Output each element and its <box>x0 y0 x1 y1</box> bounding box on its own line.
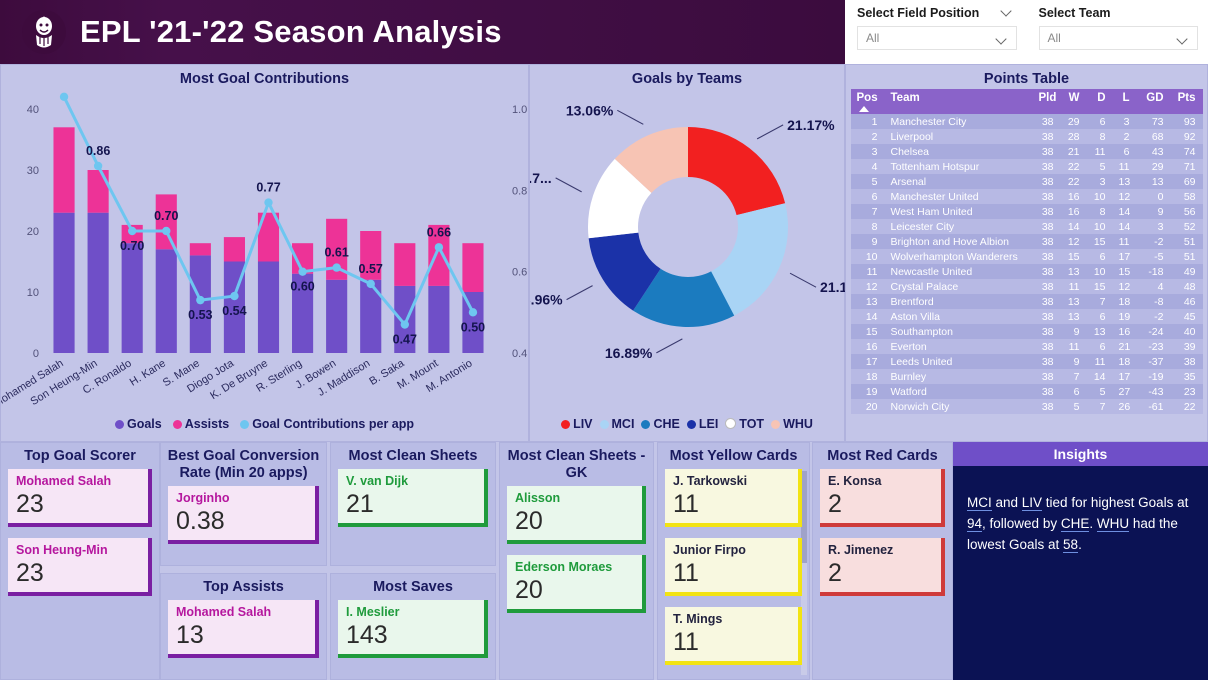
chevron-down-icon[interactable] <box>1178 35 1189 42</box>
kpi-group-title: Most Yellow Cards <box>658 443 809 469</box>
data-label: 0.86 <box>86 144 110 158</box>
table-row[interactable]: 9Brighton and Hove Albion38121511-251 <box>851 234 1203 249</box>
line-data-point[interactable] <box>401 320 409 328</box>
y-axis-tick: 30 <box>27 165 39 177</box>
table-cell-pts: 45 <box>1171 309 1203 324</box>
table-cell-pld: 38 <box>1033 159 1061 174</box>
table-cell-l: 27 <box>1113 384 1137 399</box>
kpi-card[interactable]: Alisson20 <box>507 486 646 544</box>
table-cell-gd: 9 <box>1137 204 1171 219</box>
table-row[interactable]: 19Watford386527-4323 <box>851 384 1203 399</box>
table-cell-gd: -19 <box>1137 369 1171 384</box>
table-cell-pld: 38 <box>1033 279 1061 294</box>
y2-axis-tick: 0.6 <box>512 267 527 279</box>
table-cell-gd: -24 <box>1137 324 1171 339</box>
y2-axis-tick: 1.0 <box>512 104 527 116</box>
table-cell-d: 10 <box>1087 219 1113 234</box>
bar-assists[interactable] <box>462 243 483 292</box>
kpi-card[interactable]: I. Meslier143 <box>338 600 488 658</box>
insight-entity: LIV <box>1022 495 1042 511</box>
table-cell-pld: 38 <box>1033 204 1061 219</box>
table-cell-d: 11 <box>1087 354 1113 369</box>
table-cell-pos: 2 <box>851 129 885 144</box>
table-cell-gd: -8 <box>1137 294 1171 309</box>
table-cell-d: 7 <box>1087 399 1113 414</box>
kpi-card-name: R. Jimenez <box>828 543 933 558</box>
table-cell-d: 10 <box>1087 189 1113 204</box>
donut-leader-line <box>617 110 643 124</box>
table-cell-pts: 49 <box>1171 264 1203 279</box>
page-title: EPL '21-'22 Season Analysis <box>80 14 502 50</box>
table-row[interactable]: 5Arsenal38223131369 <box>851 174 1203 189</box>
slicer-team-value: All <box>1048 31 1061 45</box>
table-cell-pld: 38 <box>1033 324 1061 339</box>
dashboard-header: EPL '21-'22 Season Analysis Select Field… <box>0 0 1208 64</box>
kpi-group-most-saves: Most SavesI. Meslier143 <box>330 573 496 680</box>
line-data-point[interactable] <box>367 280 375 288</box>
table-cell-pos: 11 <box>851 264 885 279</box>
legend-item[interactable]: WHU <box>771 417 813 431</box>
table-cell-team: West Ham United <box>885 204 1033 219</box>
table-cell-d: 6 <box>1087 249 1113 264</box>
table-cell-pts: 51 <box>1171 234 1203 249</box>
table-cell-pld: 38 <box>1033 114 1061 129</box>
table-row[interactable]: 7West Ham United3816814956 <box>851 204 1203 219</box>
sort-ascending-icon <box>859 106 869 112</box>
kpi-card[interactable]: Ederson Moraes20 <box>507 555 646 613</box>
table-row[interactable]: 20Norwich City385726-6122 <box>851 399 1203 414</box>
table-cell-d: 6 <box>1087 309 1113 324</box>
table-cell-l: 12 <box>1113 279 1137 294</box>
table-cell-l: 11 <box>1113 159 1137 174</box>
slicer-field-position[interactable]: Select Field Position All <box>845 0 1027 64</box>
insight-text: . <box>1078 537 1082 552</box>
kpi-group-most-yellow-cards[interactable]: Most Yellow Cards J. Tarkowski11Junior F… <box>657 442 810 680</box>
table-cell-gd: 43 <box>1137 144 1171 159</box>
table-cell-d: 7 <box>1087 294 1113 309</box>
bar-goals[interactable] <box>156 249 177 353</box>
table-cell-d: 3 <box>1087 174 1113 189</box>
table-cell-pos: 6 <box>851 189 885 204</box>
kpi-group-top-assists: Top AssistsMohamed Salah13 <box>160 573 327 680</box>
table-row[interactable]: 1Manchester City3829637393 <box>851 114 1203 129</box>
table-cell-pos: 10 <box>851 249 885 264</box>
slicer-team[interactable]: Select Team All <box>1027 0 1208 64</box>
table-cell-d: 15 <box>1087 279 1113 294</box>
chart-title-goals-by-teams: Goals by Teams <box>530 65 844 87</box>
table-row[interactable]: 11Newcastle United38131015-1849 <box>851 264 1203 279</box>
most-goal-contributions-chart: Most Goal Contributions 0102030400.40.60… <box>0 64 529 442</box>
legend-item[interactable]: Goal Contributions per app <box>240 417 414 431</box>
chevron-down-icon[interactable] <box>1002 7 1013 14</box>
insights-title: Insights <box>953 442 1208 466</box>
table-cell-pld: 38 <box>1033 144 1061 159</box>
bar-goals[interactable] <box>53 213 74 353</box>
kpi-card-name: Junior Firpo <box>673 543 790 558</box>
kpi-card-name: E. Konsa <box>828 474 933 489</box>
data-label: 0.77 <box>256 181 280 195</box>
table-cell-pld: 38 <box>1033 174 1061 189</box>
slicer-team-label: Select Team <box>1039 6 1199 20</box>
x-axis-tick: H. Kane <box>128 357 168 388</box>
data-label: 0.54 <box>222 304 246 318</box>
insight-entity: 58 <box>1063 537 1078 553</box>
table-cell-team: Brentford <box>885 294 1033 309</box>
bar-goals[interactable] <box>326 280 347 353</box>
kpi-card[interactable]: R. Jimenez2 <box>820 538 945 596</box>
bar-assists[interactable] <box>394 243 415 286</box>
table-cell-team: Burnley <box>885 369 1033 384</box>
table-cell-w: 29 <box>1061 114 1087 129</box>
table-cell-w: 15 <box>1061 249 1087 264</box>
legend-swatch <box>641 420 650 429</box>
kpi-card[interactable]: E. Konsa2 <box>820 469 945 527</box>
kpi-card-value: 23 <box>16 489 140 519</box>
line-data-point[interactable] <box>162 227 170 235</box>
table-cell-pts: 58 <box>1171 189 1203 204</box>
donut-slice-liv[interactable] <box>688 127 785 215</box>
donut-data-label: 13.7... <box>530 170 552 186</box>
kpi-card-value: 20 <box>515 506 634 536</box>
legend-item[interactable]: CHE <box>641 417 679 431</box>
column-header-gd[interactable]: GD <box>1137 89 1171 114</box>
table-cell-pos: 20 <box>851 399 885 414</box>
table-row[interactable]: 12Crystal Palace38111512448 <box>851 279 1203 294</box>
insight-entity: 94 <box>967 516 982 532</box>
y-axis-tick: 20 <box>27 226 39 238</box>
table-cell-pts: 38 <box>1171 354 1203 369</box>
table-cell-l: 15 <box>1113 264 1137 279</box>
table-cell-gd: -5 <box>1137 249 1171 264</box>
kpi-card-name: Mohamed Salah <box>16 474 140 489</box>
table-row[interactable]: 6Manchester United38161012058 <box>851 189 1203 204</box>
table-cell-pos: 7 <box>851 204 885 219</box>
bar-chart-svg: 0102030400.40.60.81.01.030.860.700.700.5… <box>1 91 530 443</box>
donut-chart-legend: LIVMCICHELEITOTWHU <box>530 417 844 431</box>
table-cell-pld: 38 <box>1033 264 1061 279</box>
table-cell-team: Liverpool <box>885 129 1033 144</box>
insight-entity: CHE <box>1061 516 1090 532</box>
table-cell-d: 8 <box>1087 129 1113 144</box>
insight-entity: MCI <box>967 495 992 511</box>
insight-text: , followed by <box>982 516 1061 531</box>
donut-data-label: 13.96% <box>530 292 563 308</box>
y2-axis-tick: 0.4 <box>512 348 527 360</box>
table-cell-pts: 71 <box>1171 159 1203 174</box>
points-table-header-row: Pos Team Pld W D L GD Pts <box>851 89 1203 114</box>
kpi-card-value: 23 <box>16 558 140 588</box>
bar-assists[interactable] <box>53 127 74 212</box>
legend-label: WHU <box>783 417 813 431</box>
legend-label: Goals <box>127 417 162 431</box>
table-cell-w: 28 <box>1061 129 1087 144</box>
slicer-bar: Select Field Position All Select Team Al… <box>845 0 1208 64</box>
chevron-down-icon[interactable] <box>997 35 1008 42</box>
table-cell-gd: -61 <box>1137 399 1171 414</box>
legend-label: TOT <box>739 417 764 431</box>
table-cell-team: Leeds United <box>885 354 1033 369</box>
kpi-card[interactable]: T. Mings11 <box>665 607 802 665</box>
table-cell-pts: 92 <box>1171 129 1203 144</box>
table-cell-gd: -43 <box>1137 384 1171 399</box>
table-row[interactable]: 14Aston Villa3813619-245 <box>851 309 1203 324</box>
donut-leader-line <box>757 125 783 139</box>
table-cell-w: 12 <box>1061 234 1087 249</box>
kpi-group-title: Most Clean Sheets <box>331 443 495 469</box>
kpi-card-name: V. van Dijk <box>346 474 476 489</box>
table-cell-gd: -23 <box>1137 339 1171 354</box>
line-data-point[interactable] <box>435 243 443 251</box>
insights-panel: Insights MCI and LIV tied for highest Go… <box>953 442 1208 680</box>
table-row[interactable]: 17Leeds United3891118-3738 <box>851 354 1203 369</box>
kpi-card-name: T. Mings <box>673 612 790 627</box>
column-header-l[interactable]: L <box>1113 89 1137 114</box>
table-row[interactable]: 13Brentford3813718-846 <box>851 294 1203 309</box>
table-cell-pld: 38 <box>1033 384 1061 399</box>
kpi-group-most-clean-sheets: Most Clean SheetsV. van Dijk21 <box>330 442 496 566</box>
line-data-point[interactable] <box>469 308 477 316</box>
legend-item[interactable]: TOT <box>725 417 764 431</box>
table-cell-team: Tottenham Hotspur <box>885 159 1033 174</box>
data-label: 0.66 <box>427 225 451 239</box>
table-cell-w: 9 <box>1061 324 1087 339</box>
kpi-card-name: Ederson Moraes <box>515 560 634 575</box>
kpi-card[interactable]: Mohamed Salah23 <box>8 469 152 527</box>
data-label: 0.70 <box>120 239 144 253</box>
table-cell-pld: 38 <box>1033 189 1061 204</box>
table-cell-pos: 18 <box>851 369 885 384</box>
table-cell-pts: 46 <box>1171 294 1203 309</box>
insight-text: and <box>992 495 1022 510</box>
kpi-card-value: 20 <box>515 575 634 605</box>
table-cell-pts: 52 <box>1171 219 1203 234</box>
table-cell-l: 14 <box>1113 204 1137 219</box>
table-cell-pos: 9 <box>851 234 885 249</box>
table-cell-d: 14 <box>1087 369 1113 384</box>
table-cell-team: Brighton and Hove Albion <box>885 234 1033 249</box>
table-row[interactable]: 16Everton3811621-2339 <box>851 339 1203 354</box>
donut-leader-line <box>790 273 816 287</box>
table-cell-w: 21 <box>1061 144 1087 159</box>
data-label: 0.47 <box>393 333 417 347</box>
points-table[interactable]: Pos Team Pld W D L GD Pts 1Manchester Ci… <box>851 89 1203 414</box>
table-cell-l: 17 <box>1113 249 1137 264</box>
column-header-team[interactable]: Team <box>885 89 1033 114</box>
table-cell-l: 26 <box>1113 399 1137 414</box>
legend-swatch <box>725 418 736 429</box>
legend-item[interactable]: MCI <box>600 417 635 431</box>
table-cell-pld: 38 <box>1033 309 1061 324</box>
table-row[interactable]: 10Wolverhampton Wanderers3815617-551 <box>851 249 1203 264</box>
table-cell-team: Chelsea <box>885 144 1033 159</box>
legend-swatch <box>771 420 780 429</box>
legend-swatch <box>600 420 609 429</box>
table-row[interactable]: 18Burnley3871417-1935 <box>851 369 1203 384</box>
table-cell-w: 22 <box>1061 174 1087 189</box>
column-header-d[interactable]: D <box>1087 89 1113 114</box>
kpi-card-value: 11 <box>673 558 790 588</box>
table-cell-team: Everton <box>885 339 1033 354</box>
dashboard-root: EPL '21-'22 Season Analysis Select Field… <box>0 0 1208 680</box>
line-data-point[interactable] <box>60 93 68 101</box>
kpi-card[interactable]: Jorginho0.38 <box>168 486 319 544</box>
table-cell-pts: 23 <box>1171 384 1203 399</box>
insight-text: tied for highest Goals at <box>1042 495 1188 510</box>
line-data-point[interactable] <box>264 198 272 206</box>
table-cell-w: 5 <box>1061 399 1087 414</box>
table-cell-team: Aston Villa <box>885 309 1033 324</box>
legend-item[interactable]: Assists <box>173 417 229 431</box>
table-cell-pos: 8 <box>851 219 885 234</box>
line-data-point[interactable] <box>230 292 238 300</box>
kpi-card-name: Jorginho <box>176 491 307 506</box>
legend-label: LIV <box>573 417 592 431</box>
table-cell-gd: -18 <box>1137 264 1171 279</box>
table-cell-l: 18 <box>1113 354 1137 369</box>
data-label: 0.50 <box>461 320 485 334</box>
table-cell-d: 6 <box>1087 114 1113 129</box>
donut-data-label: 21.17% <box>787 117 835 133</box>
table-cell-d: 15 <box>1087 234 1113 249</box>
points-table-panel: Points Table Pos Team Pld W D L GD <box>845 64 1208 442</box>
kpi-card-value: 11 <box>673 489 790 519</box>
legend-item[interactable]: Goals <box>115 417 162 431</box>
legend-swatch <box>115 420 124 429</box>
y-axis-tick: 10 <box>27 287 39 299</box>
kpi-card[interactable]: Junior Firpo11 <box>665 538 802 596</box>
table-row[interactable]: 15Southampton3891316-2440 <box>851 324 1203 339</box>
kpi-card[interactable]: Mohamed Salah13 <box>168 600 319 658</box>
table-cell-w: 22 <box>1061 159 1087 174</box>
bar-chart-plot: 0102030400.40.60.81.01.030.860.700.700.5… <box>1 91 530 443</box>
table-cell-w: 16 <box>1061 204 1087 219</box>
table-cell-pts: 93 <box>1171 114 1203 129</box>
y-axis-tick: 40 <box>27 104 39 116</box>
table-cell-team: Newcastle United <box>885 264 1033 279</box>
table-cell-w: 13 <box>1061 264 1087 279</box>
table-cell-pos: 4 <box>851 159 885 174</box>
table-cell-gd: 13 <box>1137 174 1171 189</box>
bar-assists[interactable] <box>190 243 211 255</box>
legend-label: Assists <box>185 417 229 431</box>
table-cell-pld: 38 <box>1033 369 1061 384</box>
table-cell-l: 18 <box>1113 294 1137 309</box>
donut-data-label: 13.06% <box>566 102 614 118</box>
table-cell-d: 5 <box>1087 384 1113 399</box>
points-table-title: Points Table <box>846 65 1207 87</box>
bar-goals[interactable] <box>122 243 143 353</box>
table-row[interactable]: 3Chelsea38211164374 <box>851 144 1203 159</box>
kpi-card-value: 21 <box>346 489 476 519</box>
table-cell-pos: 12 <box>851 279 885 294</box>
kpi-card-value: 13 <box>176 620 307 650</box>
table-row[interactable]: 8Leicester City38141014352 <box>851 219 1203 234</box>
legend-item[interactable]: LEI <box>687 417 718 431</box>
line-data-point[interactable] <box>196 296 204 304</box>
kpi-card-value: 2 <box>828 489 933 519</box>
table-cell-d: 10 <box>1087 264 1113 279</box>
table-cell-l: 16 <box>1113 324 1137 339</box>
data-label: 0.61 <box>324 246 348 260</box>
table-cell-pts: 40 <box>1171 324 1203 339</box>
kpi-group-title: Top Assists <box>161 574 326 600</box>
table-cell-pts: 69 <box>1171 174 1203 189</box>
data-label: 0.53 <box>188 308 212 322</box>
column-header-pts[interactable]: Pts <box>1171 89 1203 114</box>
kpi-card-name: I. Meslier <box>346 605 476 620</box>
slicer-field-position-dropdown[interactable]: All <box>857 26 1017 50</box>
kpi-group-title: Most Saves <box>331 574 495 600</box>
table-row[interactable]: 2Liverpool3828826892 <box>851 129 1203 144</box>
insights-text: MCI and LIV tied for highest Goals at 94… <box>953 466 1208 555</box>
kpi-card[interactable]: J. Tarkowski11 <box>665 469 802 527</box>
line-data-point[interactable] <box>298 267 306 275</box>
table-cell-l: 12 <box>1113 189 1137 204</box>
column-header-pos-label: Pos <box>857 92 878 104</box>
column-header-w[interactable]: W <box>1061 89 1087 114</box>
bar-goals[interactable] <box>88 213 109 353</box>
kpi-card-value: 2 <box>828 558 933 588</box>
kpi-group-top-goal-scorer: Top Goal ScorerMohamed Salah23Son Heung-… <box>0 442 160 680</box>
kpi-card-name: Son Heung-Min <box>16 543 140 558</box>
bar-assists[interactable] <box>224 237 245 261</box>
table-cell-pos: 3 <box>851 144 885 159</box>
kpi-card[interactable]: Son Heung-Min23 <box>8 538 152 596</box>
kpi-card[interactable]: V. van Dijk21 <box>338 469 488 527</box>
bar-goals[interactable] <box>428 286 449 353</box>
table-cell-d: 5 <box>1087 159 1113 174</box>
kpi-card-value: 143 <box>346 620 476 650</box>
bar-goals[interactable] <box>258 262 279 354</box>
table-row[interactable]: 4Tottenham Hotspur38225112971 <box>851 159 1203 174</box>
table-cell-w: 14 <box>1061 219 1087 234</box>
table-cell-l: 6 <box>1113 144 1137 159</box>
line-data-point[interactable] <box>94 162 102 170</box>
chart-title-goal-contributions: Most Goal Contributions <box>1 65 528 87</box>
line-data-point[interactable] <box>332 263 340 271</box>
legend-label: Goal Contributions per app <box>252 417 414 431</box>
table-cell-pos: 16 <box>851 339 885 354</box>
goals-by-teams-chart: Goals by Teams 21.17%21.17%16.89%13.96%1… <box>529 64 845 442</box>
bar-assists[interactable] <box>88 170 109 213</box>
table-cell-w: 7 <box>1061 369 1087 384</box>
legend-swatch <box>173 420 182 429</box>
legend-item[interactable]: LIV <box>561 417 592 431</box>
table-cell-d: 8 <box>1087 204 1113 219</box>
table-cell-pts: 35 <box>1171 369 1203 384</box>
table-cell-w: 9 <box>1061 354 1087 369</box>
table-cell-gd: -2 <box>1137 309 1171 324</box>
slicer-team-dropdown[interactable]: All <box>1039 26 1199 50</box>
line-data-point[interactable] <box>128 227 136 235</box>
table-cell-pos: 17 <box>851 354 885 369</box>
table-cell-team: Manchester United <box>885 189 1033 204</box>
column-header-pld[interactable]: Pld <box>1033 89 1061 114</box>
table-cell-w: 16 <box>1061 189 1087 204</box>
table-cell-pts: 48 <box>1171 279 1203 294</box>
slicer-field-position-label: Select Field Position <box>857 6 1017 20</box>
table-cell-w: 6 <box>1061 384 1087 399</box>
table-cell-team: Arsenal <box>885 174 1033 189</box>
table-cell-l: 17 <box>1113 369 1137 384</box>
donut-leader-line <box>556 178 582 192</box>
legend-swatch <box>240 420 249 429</box>
table-cell-team: Wolverhampton Wanderers <box>885 249 1033 264</box>
table-cell-team: Watford <box>885 384 1033 399</box>
table-cell-l: 3 <box>1113 114 1137 129</box>
column-header-pos[interactable]: Pos <box>851 89 885 114</box>
table-cell-pts: 56 <box>1171 204 1203 219</box>
